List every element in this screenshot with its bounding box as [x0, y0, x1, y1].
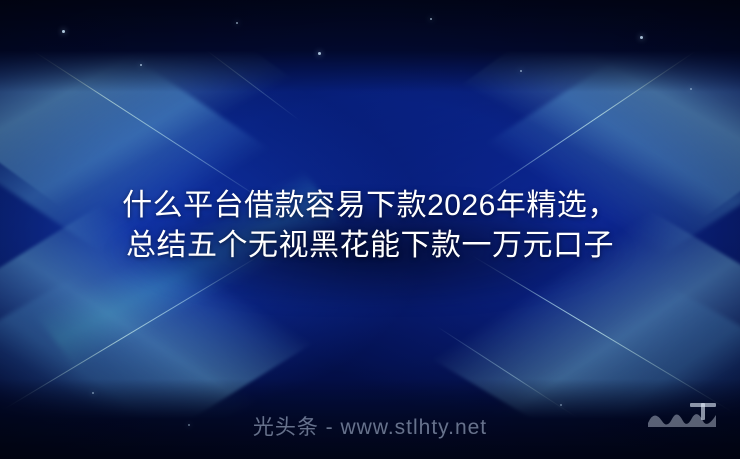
- title-line-1: 什么平台借款容易下款2026年精选，: [36, 186, 704, 226]
- particle-dot: [236, 22, 238, 24]
- particle-dot: [140, 64, 142, 66]
- particle-dot: [560, 404, 562, 406]
- particle-dot: [520, 70, 522, 72]
- banner-title: 什么平台借款容易下款2026年精选， 总结五个无视黑花能下款一万元口子: [0, 186, 740, 266]
- particle-dot: [430, 18, 432, 20]
- title-line-2: 总结五个无视黑花能下款一万元口子: [36, 226, 704, 266]
- watermark-text: 光头条 - www.stlhty.net: [0, 411, 740, 441]
- particle-dot: [640, 36, 643, 39]
- particle-dot: [690, 88, 692, 90]
- promo-banner: 什么平台借款容易下款2026年精选， 总结五个无视黑花能下款一万元口子 光头条 …: [0, 0, 740, 459]
- particle-dot: [318, 52, 321, 55]
- particle-dot: [62, 30, 65, 33]
- particle-dot: [92, 392, 94, 394]
- net-logo-mark: [646, 397, 720, 437]
